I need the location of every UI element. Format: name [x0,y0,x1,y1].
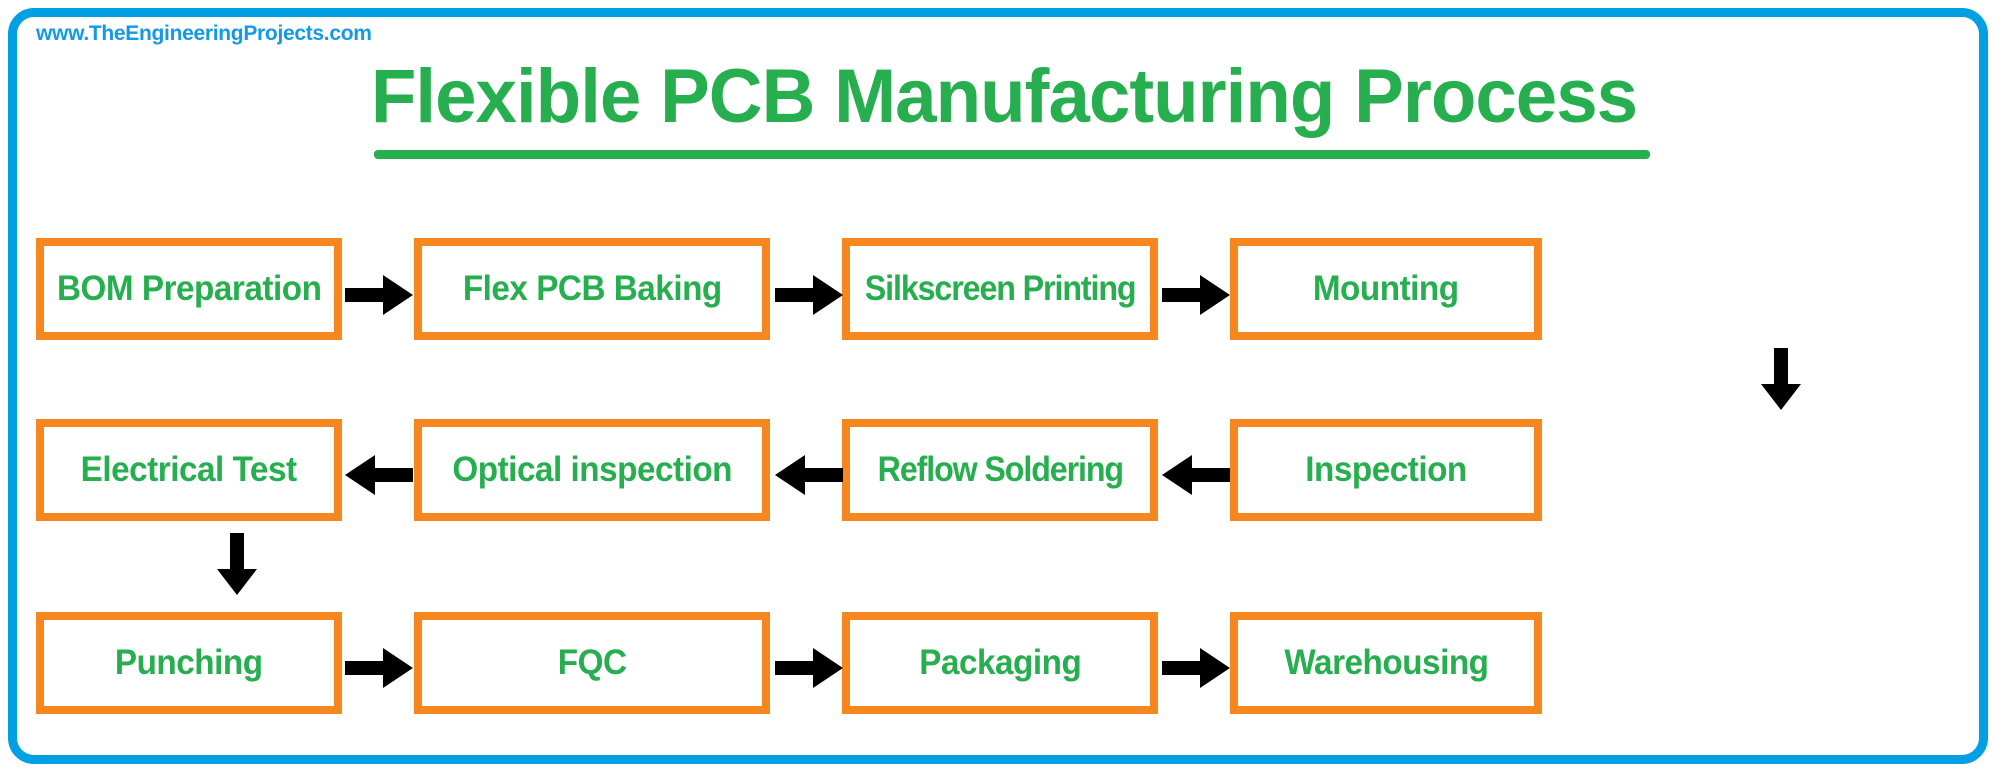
process-box-label: Electrical Test [81,450,297,490]
arrow-row1-2to3 [775,272,843,318]
process-box-mounting[interactable]: Mounting [1230,238,1542,340]
process-box-label: Optical inspection [452,450,732,490]
arrow-right-icon [775,272,843,318]
title-underline [374,150,1650,159]
process-box-warehousing[interactable]: Warehousing [1230,612,1542,714]
arrow-row2-2to1 [345,452,413,498]
process-box-bom-preparation[interactable]: BOM Preparation [36,238,342,340]
arrow-left-icon [1162,452,1230,498]
arrow-row3-3to4 [1162,645,1230,691]
process-box-label: Reflow Soldering [877,450,1122,490]
arrow-row3-1to2 [345,645,413,691]
process-box-label: BOM Preparation [57,269,321,309]
arrow-right-icon [775,645,843,691]
process-box-label: Packaging [919,643,1081,683]
arrow-row2-3to2 [775,452,843,498]
arrow-right-icon [1162,645,1230,691]
arrow-row1-1to2 [345,272,413,318]
arrow-left-icon [345,452,413,498]
arrow-down-icon [214,533,260,595]
process-box-punching[interactable]: Punching [36,612,342,714]
process-box-label: Silkscreen Printing [865,269,1136,309]
arrow-right-icon [345,272,413,318]
arrow-right-icon [1162,272,1230,318]
process-box-optical-inspection[interactable]: Optical inspection [414,419,770,521]
process-box-inspection[interactable]: Inspection [1230,419,1542,521]
process-box-flex-pcb-baking[interactable]: Flex PCB Baking [414,238,770,340]
process-box-label: Inspection [1305,450,1467,490]
arrow-right-icon [345,645,413,691]
process-box-silkscreen-printing[interactable]: Silkscreen Printing [842,238,1158,340]
arrow-row1-3to4 [1162,272,1230,318]
arrow-row3-2to3 [775,645,843,691]
process-box-reflow-soldering[interactable]: Reflow Soldering [842,419,1158,521]
process-box-label: Punching [115,643,263,683]
process-box-label: FQC [558,643,627,683]
process-box-label: Warehousing [1284,643,1488,683]
arrow-down-icon [1758,348,1804,410]
process-box-fqc[interactable]: FQC [414,612,770,714]
process-box-electrical-test[interactable]: Electrical Test [36,419,342,521]
process-box-packaging[interactable]: Packaging [842,612,1158,714]
arrow-mounting-to-inspection [1758,348,1804,410]
arrow-left-icon [775,452,843,498]
diagram-canvas: www.TheEngineeringProjects.com Flexible … [0,0,2008,780]
arrow-row2-4to3 [1162,452,1230,498]
site-watermark: www.TheEngineeringProjects.com [36,22,372,46]
arrow-electrical-test-to-punching [214,533,260,595]
process-box-label: Flex PCB Baking [463,269,722,309]
process-box-label: Mounting [1313,269,1459,309]
page-title: Flexible PCB Manufacturing Process [20,56,1988,138]
